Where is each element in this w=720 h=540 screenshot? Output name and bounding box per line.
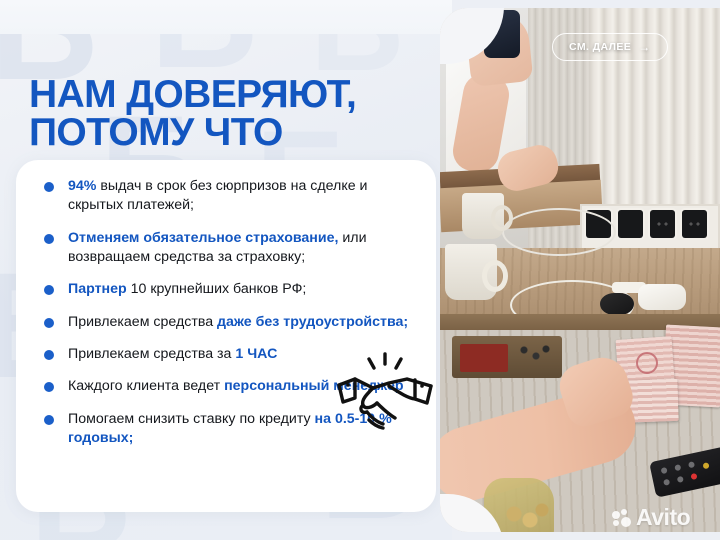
photo-mug: [445, 244, 497, 300]
bullet-text-segment: 94%: [68, 178, 96, 194]
bullet-text-segment: Отменяем обязательное страхование,: [68, 230, 338, 246]
promo-card: Б Б Б Б Б Б Б Б Б НАМ ДОВЕРЯЮТ, ПОТОМУ Ч…: [0, 0, 720, 540]
bullet-dot-icon: [44, 382, 54, 392]
see-more-label: СМ. ДАЛЕЕ: [569, 41, 631, 53]
bullet-approval-rate: 94% выдач в срок без сюрпризов на сделке…: [40, 177, 415, 216]
photo-keys: [516, 342, 556, 368]
bullet-text-segment: даже без трудоустройства;: [217, 314, 408, 330]
bullet-dot-icon: [44, 415, 54, 425]
bullet-text-segment: Партнер: [68, 281, 127, 297]
bullet-text-segment: 1 ЧАС: [235, 346, 277, 362]
bullet-text-segment: 10 крупнейших банков РФ;: [127, 281, 307, 297]
handshake-icon: [333, 352, 437, 442]
office-photo: [440, 8, 720, 532]
photo-cable: [502, 208, 616, 256]
bullet-text-segment: Каждого клиента ведет: [68, 378, 224, 394]
page-title-line-2: ПОТОМУ ЧТО: [29, 114, 429, 152]
bullet-text-segment: Привлекаем средства за: [68, 346, 235, 362]
avito-logo-icon: [612, 509, 632, 527]
photo-coins: [502, 500, 556, 532]
top-band: [0, 0, 452, 34]
bullet-partner-banks: Партнер 10 крупнейших банков РФ;: [40, 280, 415, 299]
photo-charger: [638, 284, 686, 310]
see-more-button[interactable]: СМ. ДАЛЕЕ →: [552, 33, 668, 61]
arrow-right-icon: →: [638, 41, 650, 53]
bullet-dot-icon: [44, 318, 54, 328]
bullet-dot-icon: [44, 285, 54, 295]
bullet-text-segment: Привлекаем средства: [68, 314, 217, 330]
photo-banknote-seal: [636, 352, 658, 374]
page-title-line-1: НАМ ДОВЕРЯЮТ,: [29, 73, 356, 116]
photo-socket: [682, 210, 707, 238]
avito-watermark: Avito: [612, 506, 690, 529]
photo-mug: [462, 193, 504, 239]
bullet-insurance: Отменяем обязательное страхование, или в…: [40, 229, 415, 268]
avito-wordmark: Avito: [636, 506, 690, 529]
photo-socket: [650, 210, 675, 238]
photo-switch: [618, 210, 643, 238]
bullet-dot-icon: [44, 234, 54, 244]
bullet-text-segment: выдач в срок без сюрпризов на сделке и с…: [68, 178, 367, 213]
page-title: НАМ ДОВЕРЯЮТ, ПОТОМУ ЧТО: [29, 76, 429, 152]
bullet-dot-icon: [44, 350, 54, 360]
photo-red-box: [460, 344, 508, 372]
bullet-dot-icon: [44, 182, 54, 192]
photo-mouse: [600, 293, 634, 315]
bullet-no-employment: Привлекаем средства даже без трудоустрой…: [40, 313, 415, 332]
bullet-text-segment: Помогаем снизить ставку по кредиту: [68, 411, 315, 427]
